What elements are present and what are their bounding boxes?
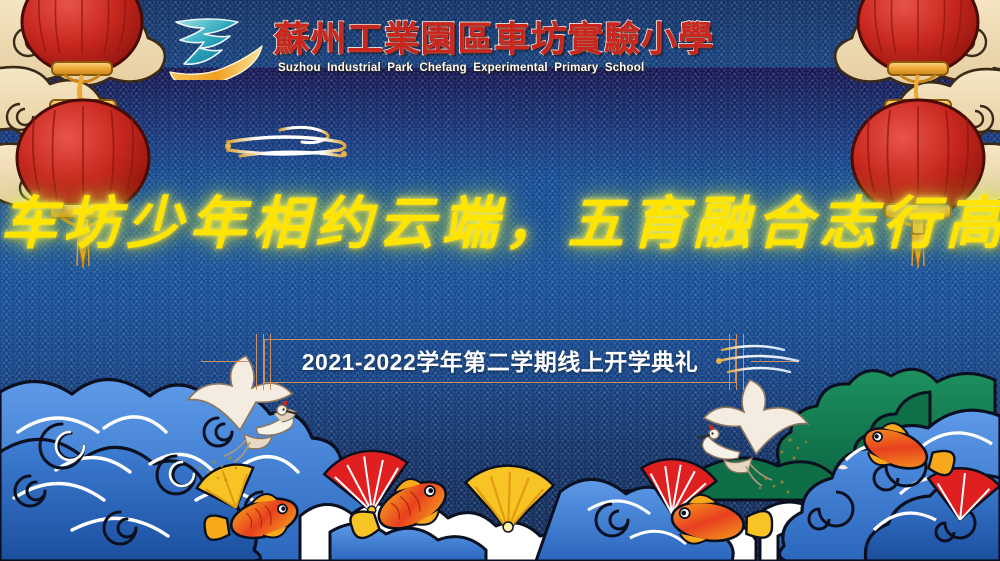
main-title: 车坊少年相约云端，五育融合志行高远 xyxy=(0,193,1000,255)
cloud-line-decoration-subtitle xyxy=(716,340,802,382)
school-emblem-icon xyxy=(168,14,268,80)
subtitle-frame: 2021-2022学年第二学期线上开学典礼 xyxy=(264,339,736,383)
lantern-top-left xyxy=(22,0,142,103)
poster-canvas: 蘇州工業園區車坊實驗小學 Suzhou Industrial Park Chef… xyxy=(0,0,1000,561)
lantern-decorations xyxy=(0,0,1000,561)
subtitle-text: 2021-2022学年第二学期线上开学典礼 xyxy=(296,343,705,377)
school-name-english: Suzhou Industrial Park Chefang Experimen… xyxy=(278,62,710,74)
frame-dash-left xyxy=(201,361,249,362)
school-name-chinese: 蘇州工業園區車坊實驗小學 xyxy=(274,22,715,59)
school-name-text: 蘇州工業園區車坊實驗小學 Suzhou Industrial Park Chef… xyxy=(278,20,710,74)
lantern-top-right xyxy=(858,0,978,103)
subtitle-band: 2021-2022学年第二学期线上开学典礼 xyxy=(0,333,1000,389)
school-logo-block: 蘇州工業園區車坊實驗小學 Suzhou Industrial Park Chef… xyxy=(168,10,808,84)
frame-accent-left xyxy=(252,334,278,390)
